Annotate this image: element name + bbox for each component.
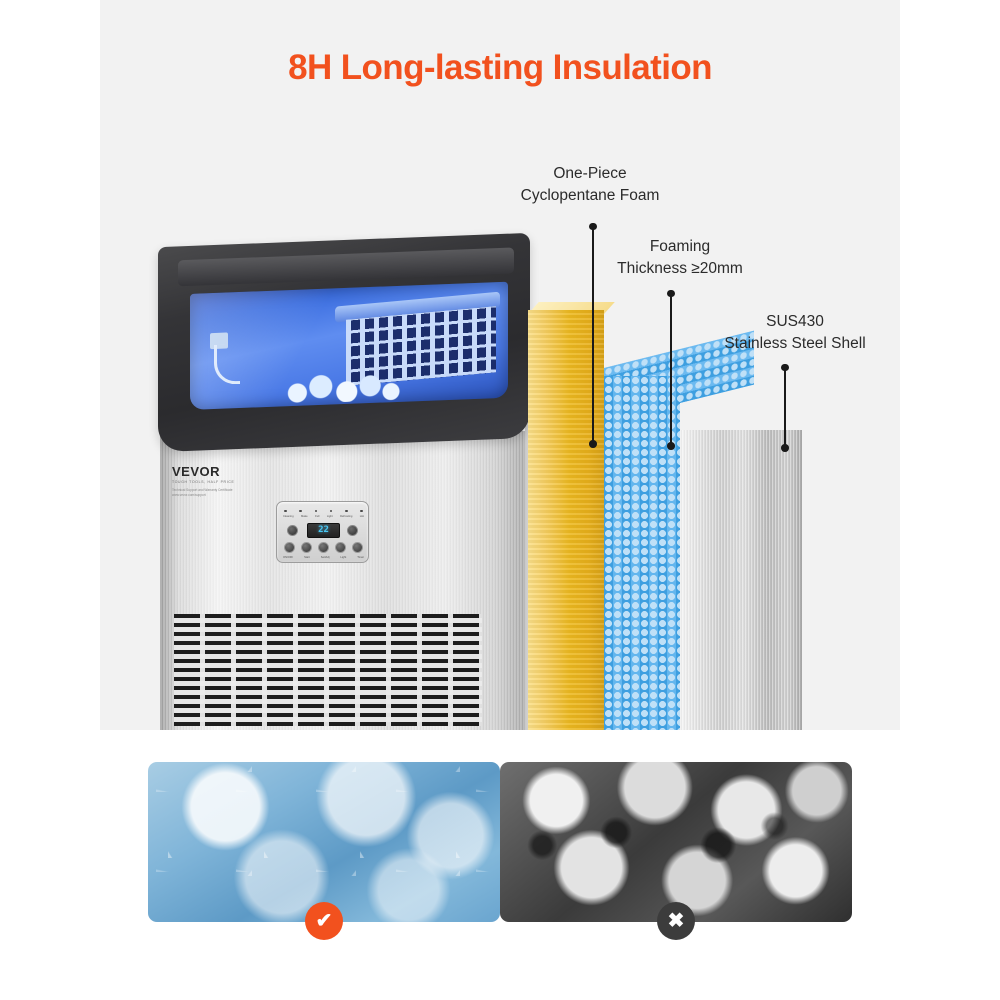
control-button[interactable]	[318, 542, 329, 553]
door-top-bar	[178, 247, 514, 286]
control-button-label-row: ON/OFF Start Set/Adj Light Timer	[283, 556, 364, 559]
button-label: Start	[304, 556, 310, 559]
brand-block: VEVOR TOUGH TOOLS, HALF PRICE Technical …	[172, 464, 292, 498]
machine-door-frame	[158, 233, 530, 452]
button-label: ON/OFF	[283, 556, 293, 559]
indicator-light-row	[284, 508, 363, 514]
indicator-light	[315, 510, 318, 513]
right-knob[interactable]	[347, 525, 358, 536]
control-button[interactable]	[335, 542, 346, 553]
cloudy-ice-photo	[500, 762, 852, 922]
brand-tagline: TOUGH TOOLS, HALF PRICE	[172, 480, 292, 484]
indicator-label: Make	[301, 515, 308, 518]
ice-bin-window	[190, 282, 508, 410]
clear-ice-photo	[148, 762, 500, 922]
indicator-label: Hot	[360, 515, 364, 518]
button-label: Set/Adj	[321, 556, 330, 559]
glass-reflection	[190, 282, 508, 410]
ventilation-grille	[174, 614, 482, 726]
button-label: Timer	[357, 556, 364, 559]
check-icon: ✔	[305, 902, 343, 940]
left-knob[interactable]	[287, 525, 298, 536]
callout-foaming-thickness: Foaming Thickness ≥20mm	[545, 236, 815, 281]
lcd-display: 22	[307, 523, 340, 538]
indicator-light	[284, 510, 287, 513]
control-button-row	[284, 542, 363, 553]
button-label: Light	[340, 556, 346, 559]
comparison-card-bad: ✖	[500, 762, 852, 922]
brand-support-text: Technical Support and Warranty Certifica…	[172, 488, 292, 498]
indicator-light	[299, 510, 302, 513]
page-title: 8H Long-lasting Insulation	[0, 48, 1000, 88]
foam-bubble-layer	[604, 376, 680, 730]
indicator-label: Cleaning	[283, 515, 294, 518]
indicator-label: Light	[327, 515, 333, 518]
stainless-steel-layer	[680, 430, 802, 730]
lcd-value: 22	[318, 526, 329, 535]
indicator-light	[345, 510, 348, 513]
leader-line-shell	[784, 367, 786, 448]
control-button[interactable]	[284, 542, 295, 553]
cross-icon: ✖	[657, 902, 695, 940]
ice-machine-illustration: VEVOR TOUGH TOOLS, HALF PRICE Technical …	[150, 236, 550, 730]
callout-stainless-shell: SUS430 Stainless Steel Shell	[660, 311, 930, 356]
control-panel[interactable]: Cleaning Make Full Light Defrosting Hot …	[276, 501, 369, 563]
indicator-label: Defrosting	[340, 515, 352, 518]
comparison-card-good: ✔	[148, 762, 500, 922]
indicator-label: Full	[315, 515, 319, 518]
callout-one-piece-foam: One-Piece Cyclopentane Foam	[455, 163, 725, 208]
control-button[interactable]	[301, 542, 312, 553]
indicator-light	[330, 510, 333, 513]
indicator-light	[360, 510, 363, 513]
brand-name: VEVOR	[172, 464, 292, 479]
control-button[interactable]	[352, 542, 363, 553]
indicator-label-row: Cleaning Make Full Light Defrosting Hot	[283, 515, 364, 518]
